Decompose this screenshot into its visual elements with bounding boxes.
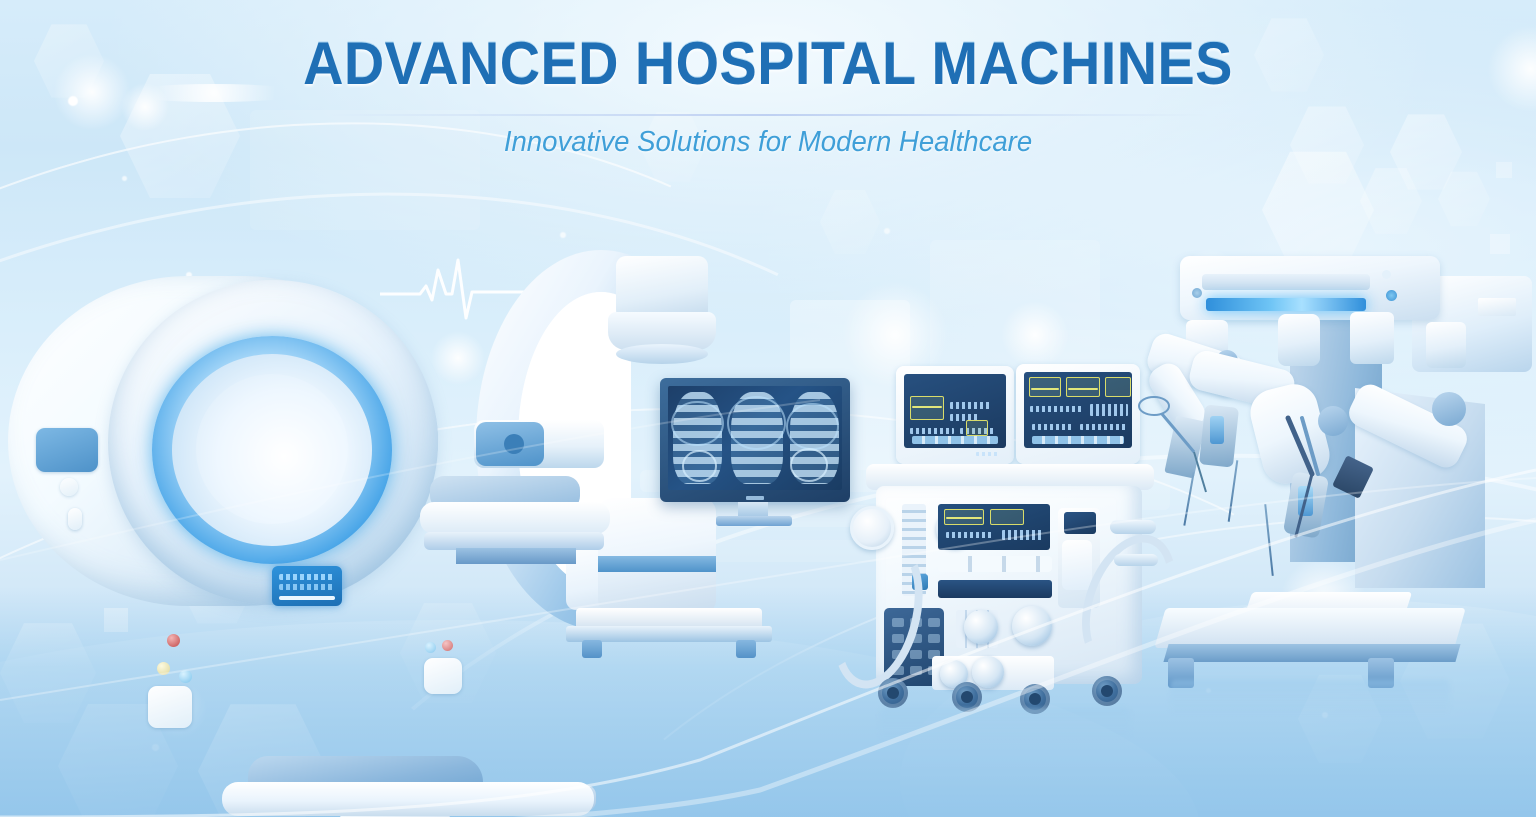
screen-text-glyph xyxy=(1032,424,1072,430)
mri-scanner xyxy=(0,258,520,688)
caster-wheel xyxy=(1092,676,1122,706)
bokeh-dot xyxy=(884,228,890,234)
xray-rib-arc xyxy=(671,401,723,447)
control-knob-right[interactable] xyxy=(1012,606,1052,646)
carm-bed-leg xyxy=(456,548,576,564)
caster-wheel xyxy=(878,678,908,708)
waveform-box xyxy=(1105,377,1131,397)
mri-side-button[interactable] xyxy=(68,508,82,530)
keypad-key[interactable] xyxy=(910,666,922,675)
status-light-red xyxy=(167,634,180,647)
square-accent xyxy=(1496,162,1512,178)
waveform-box xyxy=(910,396,944,420)
robot-head-indicator xyxy=(1192,288,1202,298)
xray-collimator-lens xyxy=(616,344,708,364)
robot-instrument-needle xyxy=(1228,460,1239,522)
screen-text-glyph xyxy=(950,402,992,409)
robot-head-slot xyxy=(1202,274,1370,290)
monitor-brand-mark xyxy=(746,496,764,500)
vitals-screen-right xyxy=(1024,372,1132,448)
screen-text-glyph xyxy=(1002,530,1042,540)
robot-instrument-window xyxy=(1210,416,1224,444)
c-arm-positioning-knob[interactable] xyxy=(476,422,544,466)
mri-bore-core xyxy=(196,374,348,524)
robot-arm-mount xyxy=(1278,314,1320,366)
c-arm-foot xyxy=(736,640,756,658)
robot-arm-joint xyxy=(1432,392,1466,426)
bokeh-dot xyxy=(122,176,127,181)
waveform-trace xyxy=(946,517,982,519)
mri-led-row xyxy=(279,574,335,580)
mri-right-panel[interactable] xyxy=(424,658,462,694)
vitals-screen-left xyxy=(904,374,1006,448)
xray-pelvis-shape xyxy=(790,448,828,481)
screen-text-glyph xyxy=(1080,424,1128,430)
bokeh-dot xyxy=(560,232,566,238)
monitor-stand xyxy=(716,516,792,526)
mri-led-display xyxy=(272,566,342,606)
mri-side-screen xyxy=(36,428,98,472)
xray-screen[interactable] xyxy=(668,386,842,490)
keypad-key[interactable] xyxy=(928,618,940,627)
surgical-robot xyxy=(1140,248,1536,688)
keypad-key[interactable] xyxy=(910,650,922,659)
screen-text-glyph xyxy=(1090,404,1128,416)
status-light-right-blue xyxy=(425,642,436,653)
header-divider xyxy=(328,114,1208,116)
monitor-softkeys[interactable] xyxy=(912,436,998,444)
cart-right-display xyxy=(1064,512,1096,534)
waveform-trace xyxy=(912,406,942,408)
carm-bed-top xyxy=(420,502,610,534)
cart-status-strip xyxy=(938,580,1052,598)
monitor-bezel xyxy=(660,378,850,502)
robot-base-platform xyxy=(1154,608,1465,648)
anesthesia-machine xyxy=(860,360,1160,710)
robot-head-button[interactable] xyxy=(1382,270,1391,279)
robot-side-label xyxy=(1478,298,1516,316)
waveform-box xyxy=(1029,377,1061,397)
robot-base-underside xyxy=(1163,644,1460,662)
control-knob-lower-right[interactable] xyxy=(972,656,1004,688)
xray-display-monitor xyxy=(660,378,850,528)
keypad-key[interactable] xyxy=(928,634,940,643)
vitals-monitor-left[interactable] xyxy=(896,366,1014,464)
xray-pelvis-shape xyxy=(682,450,717,481)
waveform-box xyxy=(966,420,988,436)
xray-rib-arc xyxy=(786,403,838,451)
cart-slider-row[interactable] xyxy=(938,556,1052,572)
status-light-right-red xyxy=(442,640,453,651)
c-arm-foot xyxy=(582,640,602,658)
monitor-indicator xyxy=(976,452,998,456)
waveform-trace xyxy=(1068,388,1098,390)
floor-reflection xyxy=(1170,680,1450,714)
mri-led-row xyxy=(279,584,335,590)
page-subtitle: Innovative Solutions for Modern Healthca… xyxy=(38,126,1497,159)
robot-head-indicator xyxy=(1386,290,1397,301)
mri-side-square xyxy=(60,478,78,496)
screen-text-glyph xyxy=(910,428,954,434)
control-knob-left[interactable] xyxy=(964,610,998,644)
robot-arm-mount xyxy=(1426,322,1466,368)
waveform-box xyxy=(1066,377,1100,397)
monitor-softkeys[interactable] xyxy=(1032,436,1124,444)
waveform-trace xyxy=(1031,388,1059,390)
mri-led-bar xyxy=(279,596,335,600)
robot-arm-mount xyxy=(1350,312,1394,364)
status-light-blue xyxy=(179,670,192,683)
screen-text-glyph xyxy=(946,532,994,538)
banner-canvas: ADVANCED HOSPITAL MACHINES Innovative So… xyxy=(0,0,1536,817)
banner-header: ADVANCED HOSPITAL MACHINES Innovative So… xyxy=(0,34,1536,159)
cart-right-vaporizer xyxy=(1062,540,1092,590)
status-light-yellow xyxy=(157,662,170,675)
vitals-monitor-right[interactable] xyxy=(1016,364,1140,464)
mri-control-panel[interactable] xyxy=(148,686,192,728)
robot-led-light-bar xyxy=(1206,298,1366,311)
carm-patient-bed xyxy=(430,476,630,596)
xray-detector-head xyxy=(616,256,708,320)
floor-reflection xyxy=(880,708,1130,742)
cart-main-display[interactable] xyxy=(938,504,1050,550)
waveform-box xyxy=(990,509,1024,525)
page-title: ADVANCED HOSPITAL MACHINES xyxy=(54,34,1482,94)
patient-table-top xyxy=(222,782,594,816)
screen-text-glyph xyxy=(1030,406,1082,412)
